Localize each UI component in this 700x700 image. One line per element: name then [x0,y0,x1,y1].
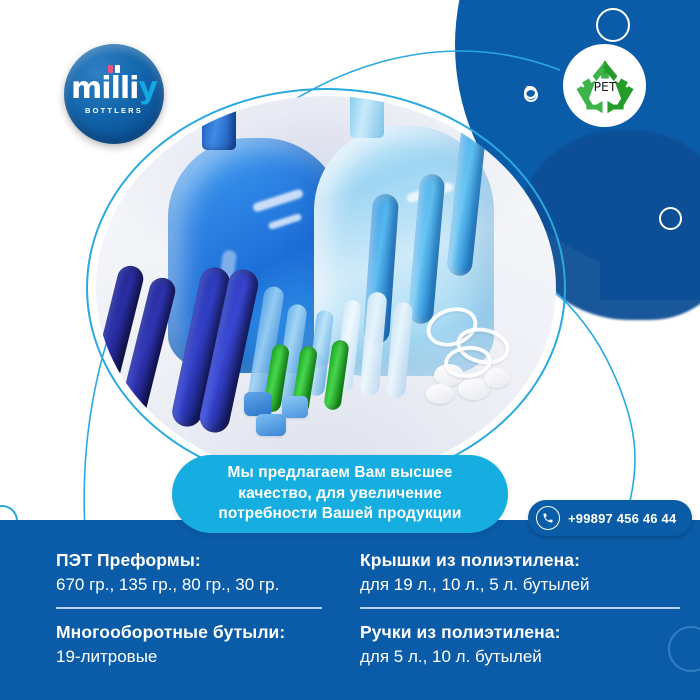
product-detail: 670 гр., 135 гр., 80 гр., 30 гр. [56,574,322,595]
footer-divider-right [360,607,680,609]
decor-ring-1 [596,8,630,42]
slogan-line-3: потребности Вашей продукции [218,505,461,522]
recycle-pet-icon: PET [563,44,646,127]
product-block-preforms: ПЭТ Преформы: 670 гр., 135 гр., 80 гр., … [56,550,322,595]
product-block-returnable-bottles: Многооборотные бутыли: 19-литровые [56,622,322,667]
product-detail: 19-литровые [56,646,322,667]
product-title: Многооборотные бутыли: [56,622,322,644]
product-detail: для 19 л., 10 л., 5 л. бутылей [360,574,680,595]
product-title: Ручки из полиэтилена: [360,622,680,644]
footer-divider-left [56,607,322,609]
poster-canvas: milliy BOTTLERS PET [0,0,700,700]
phone-icon [536,506,560,530]
recycle-arrows-icon: PET [574,55,636,117]
phone-number: +99897 456 46 44 [568,511,676,526]
product-title: Крышки из полиэтилена: [360,550,680,572]
product-detail: для 5 л., 10 л. бутылей [360,646,680,667]
product-title: ПЭТ Преформы: [56,550,322,572]
brand-logo-dots [108,65,120,73]
footer-columns: ПЭТ Преформы: 670 гр., 135 гр., 80 гр., … [0,520,700,700]
slogan-line-1: Мы предлагаем Вам высшее [227,464,452,481]
product-photo-ring [86,88,566,488]
footer-column-left: ПЭТ Преформы: 670 гр., 135 гр., 80 гр., … [0,550,350,700]
phone-badge[interactable]: +99897 456 46 44 [528,500,692,536]
product-block-handles: Ручки из полиэтилена: для 5 л., 10 л. бу… [360,622,680,667]
pet-label: PET [593,78,616,93]
slogan-line-2: качество, для увеличение [238,485,442,502]
footer-band: ПЭТ Преформы: 670 гр., 135 гр., 80 гр., … [0,520,700,700]
decor-ring-5 [659,207,682,230]
footer-column-right: Крышки из полиэтилена: для 19 л., 10 л.,… [350,550,700,700]
slogan-banner: Мы предлагаем Вам высшее качество, для у… [172,455,508,533]
product-block-caps: Крышки из полиэтилена: для 19 л., 10 л.,… [360,550,680,595]
